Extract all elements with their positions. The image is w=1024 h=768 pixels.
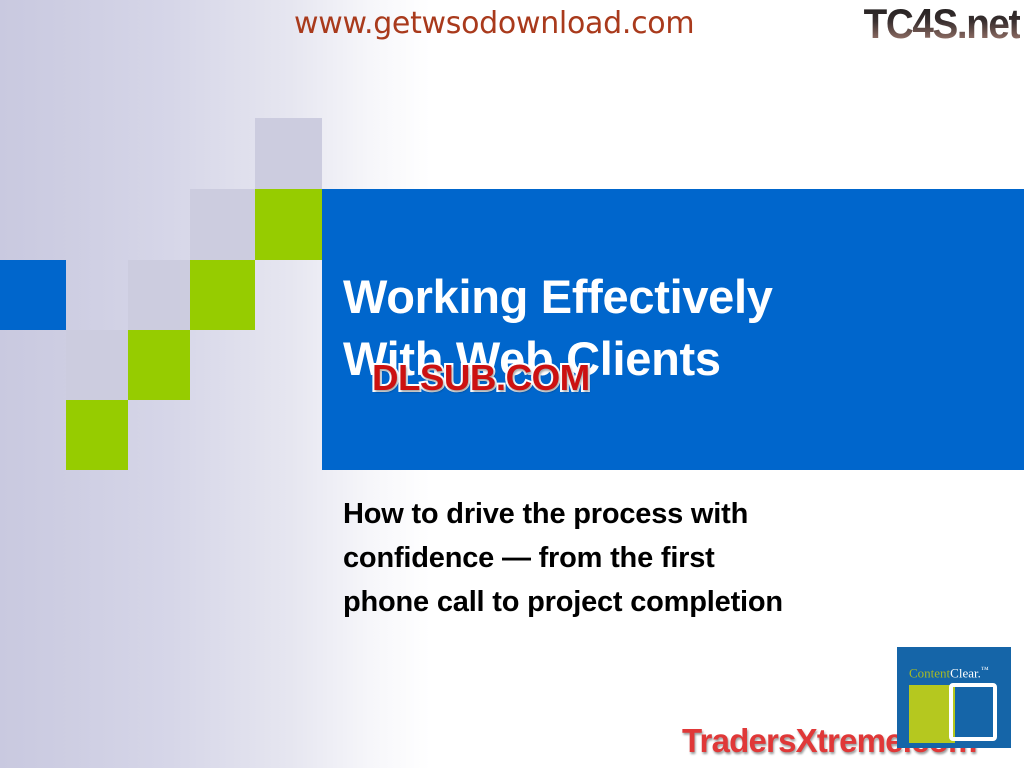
logo-word-content: Content [909, 665, 950, 680]
presentation-slide: Working Effectively With Web Clients How… [0, 0, 1024, 768]
watermark-tc4s-brand: TC4S.net [864, 0, 1020, 48]
subtitle-line-3: phone call to project completion [343, 580, 983, 624]
mosaic-square-green [255, 189, 322, 260]
mosaic-square-green [66, 400, 128, 470]
mosaic-square-lavender [255, 118, 322, 189]
mosaic-square-lavender [66, 330, 128, 400]
logo-word-clear: Clear [950, 665, 977, 680]
watermark-dlsub-brand: DLSUB.COM [372, 357, 590, 399]
mosaic-square-green [190, 260, 255, 330]
logo-outline-rectangle-icon [949, 683, 997, 741]
slide-subtitle: How to drive the process with confidence… [343, 492, 983, 624]
contentclear-logo: ContentClear.™ [897, 647, 1011, 748]
logo-trademark: ™ [981, 665, 989, 674]
title-line-1: Working Effectively [343, 266, 1003, 328]
mosaic-square-blue [0, 260, 66, 330]
mosaic-square-lavender [190, 189, 255, 260]
contentclear-wordmark: ContentClear.™ [909, 665, 989, 681]
mosaic-square-green [128, 330, 190, 400]
subtitle-line-1: How to drive the process with [343, 492, 983, 536]
subtitle-line-2: confidence — from the first [343, 536, 983, 580]
watermark-top-url: www.getwsodownload.com [294, 6, 694, 41]
mosaic-square-lavender [128, 260, 190, 330]
